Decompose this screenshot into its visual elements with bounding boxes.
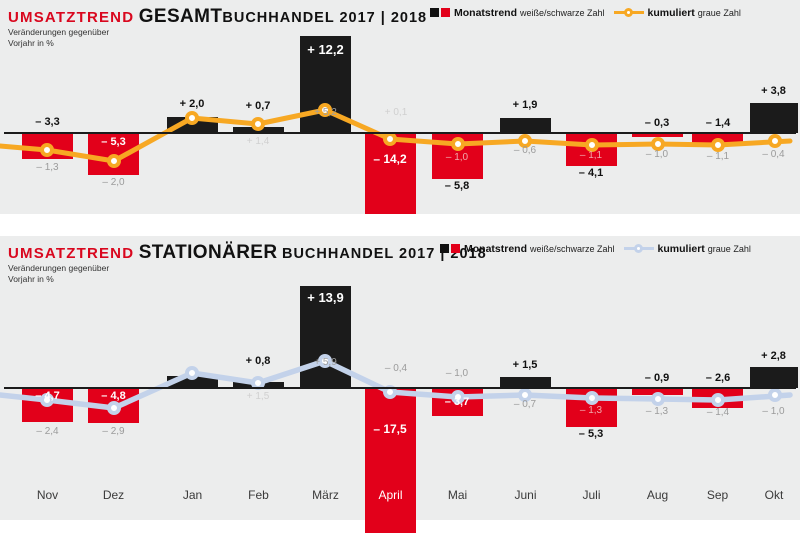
- value-monthly-juni-2: + 1,5: [496, 359, 554, 371]
- cumulative-line-stationaer: [0, 236, 800, 476]
- value-monthly-maerz-1: + 12,2: [297, 42, 354, 57]
- line-marker-okt-2: [770, 390, 780, 400]
- panel2-plot: – 4,7 – 4,8 + 0,8 + 13,9 – 17,5 – 3,7 + …: [0, 236, 800, 476]
- line-marker-jan-2: [187, 368, 197, 378]
- value-monthly-nov-2: – 4,7: [22, 390, 73, 402]
- value-cumulative-aug-1: – 1,0: [628, 149, 686, 160]
- value-monthly-juli-1: – 4,1: [562, 167, 620, 179]
- value-monthly-april-1: – 14,2: [360, 152, 420, 166]
- value-monthly-mai-2: – 3,7: [428, 396, 486, 408]
- value-monthly-juli-2: – 5,3: [562, 428, 620, 440]
- line-marker-juli-1: [587, 140, 597, 150]
- month-label-nov: Nov: [22, 488, 73, 502]
- value-monthly-juni-1: + 1,9: [496, 99, 554, 111]
- value-monthly-aug-2: – 0,9: [628, 372, 686, 384]
- month-label-aug: Aug: [632, 488, 683, 502]
- month-label-sep: Sep: [692, 488, 743, 502]
- value-monthly-aug-1: – 0,3: [628, 117, 686, 129]
- value-cumulative-nov-2: – 2,4: [22, 426, 73, 437]
- value-monthly-dez-1: – 5,3: [88, 136, 139, 148]
- april-highlight-band-foot: [365, 476, 416, 533]
- value-monthly-sep-2: – 2,6: [689, 372, 747, 384]
- month-label-dez: Dez: [88, 488, 139, 502]
- line-marker-sep-2: [713, 395, 723, 405]
- line-marker-okt-1: [770, 136, 780, 146]
- value-cumulative-sep-2: – 1,4: [689, 407, 747, 418]
- value-cumulative-juni-2: – 0,7: [496, 399, 554, 410]
- month-label-juni: Juni: [500, 488, 551, 502]
- line-marker-sep-1: [713, 140, 723, 150]
- value-monthly-feb-1: + 0,7: [228, 100, 288, 112]
- line-marker-jan-1: [187, 113, 197, 123]
- value-monthly-jan-1: + 2,0: [162, 98, 222, 110]
- value-monthly-sep-1: – 1,4: [689, 117, 747, 129]
- month-label-okt: Okt: [750, 488, 798, 502]
- line-marker-aug-2: [653, 394, 663, 404]
- value-cumulative-okt-1: – 0,4: [746, 149, 800, 160]
- value-cumulative-dez-1: – 2,0: [88, 177, 139, 188]
- value-cumulative-mai-1: – 1,0: [428, 152, 486, 163]
- month-label-mai: Mai: [432, 488, 483, 502]
- month-label-juli: Juli: [566, 488, 617, 502]
- value-cumulative-dez-2: – 2,9: [88, 426, 139, 437]
- value-monthly-okt-2: + 2,8: [746, 350, 800, 362]
- line-marker-feb-1: [253, 119, 263, 129]
- line-marker-juli-2: [587, 393, 597, 403]
- value-cumulative-juli-2: – 1,3: [562, 405, 620, 416]
- value-cumulative-okt-2: – 1,0: [746, 406, 800, 417]
- line-marker-aug-1: [653, 139, 663, 149]
- value-cumulative-mai-2: – 1,0: [428, 368, 486, 379]
- month-label-april-overlay: April: [365, 488, 416, 502]
- month-label-jan: Jan: [167, 488, 218, 502]
- value-cumulative-sep-1: – 1,1: [689, 151, 747, 162]
- value-monthly-maerz-2: + 13,9: [297, 290, 354, 305]
- line-marker-april-1: [385, 134, 395, 144]
- value-monthly-okt-1: + 3,8: [746, 85, 800, 97]
- line-marker-dez-2: [109, 403, 119, 413]
- panel1-plot: – 3,3 – 5,3 + 2,0 + 0,7 + 12,2 – 14,2 – …: [0, 0, 800, 214]
- value-cumulative-juni-1: – 0,6: [496, 145, 554, 156]
- value-cumulative-juli-1: – 1,1: [562, 150, 620, 161]
- line-marker-mai-1: [453, 139, 463, 149]
- zero-axis-line-1: [4, 132, 796, 134]
- value-monthly-april-2: – 17,5: [360, 422, 420, 436]
- value-cumulative-maerz-1: + 5,2: [297, 107, 354, 118]
- value-monthly-mai-1: – 5,8: [428, 180, 486, 192]
- value-cumulative-april-1: + 0,1: [362, 107, 430, 118]
- chart-panel-gesamt: UMSATZTREND GESAMTBUCHHANDEL 2017 | 2018…: [0, 0, 800, 214]
- value-cumulative-feb-2: + 1,5: [228, 391, 288, 402]
- value-monthly-feb-2: + 0,8: [228, 355, 288, 367]
- value-monthly-dez-2: – 4,8: [88, 390, 139, 402]
- value-monthly-nov-1: – 3,3: [22, 116, 73, 128]
- value-cumulative-nov-1: – 1,3: [22, 162, 73, 173]
- value-cumulative-maerz-2: + 5,9: [297, 357, 354, 368]
- chart-panel-stationaer: UMSATZTREND STATIONÄRER BUCHHANDEL 2017 …: [0, 236, 800, 476]
- line-marker-dez-1: [109, 156, 119, 166]
- month-label-feb: Feb: [233, 488, 284, 502]
- month-label-maerz: März: [300, 488, 351, 502]
- value-cumulative-april-2: – 0,4: [362, 363, 430, 374]
- zero-axis-line-2: [4, 387, 796, 389]
- line-marker-nov-1: [42, 145, 52, 155]
- value-cumulative-feb-1: + 1,4: [228, 136, 288, 147]
- value-cumulative-aug-2: – 1,3: [628, 406, 686, 417]
